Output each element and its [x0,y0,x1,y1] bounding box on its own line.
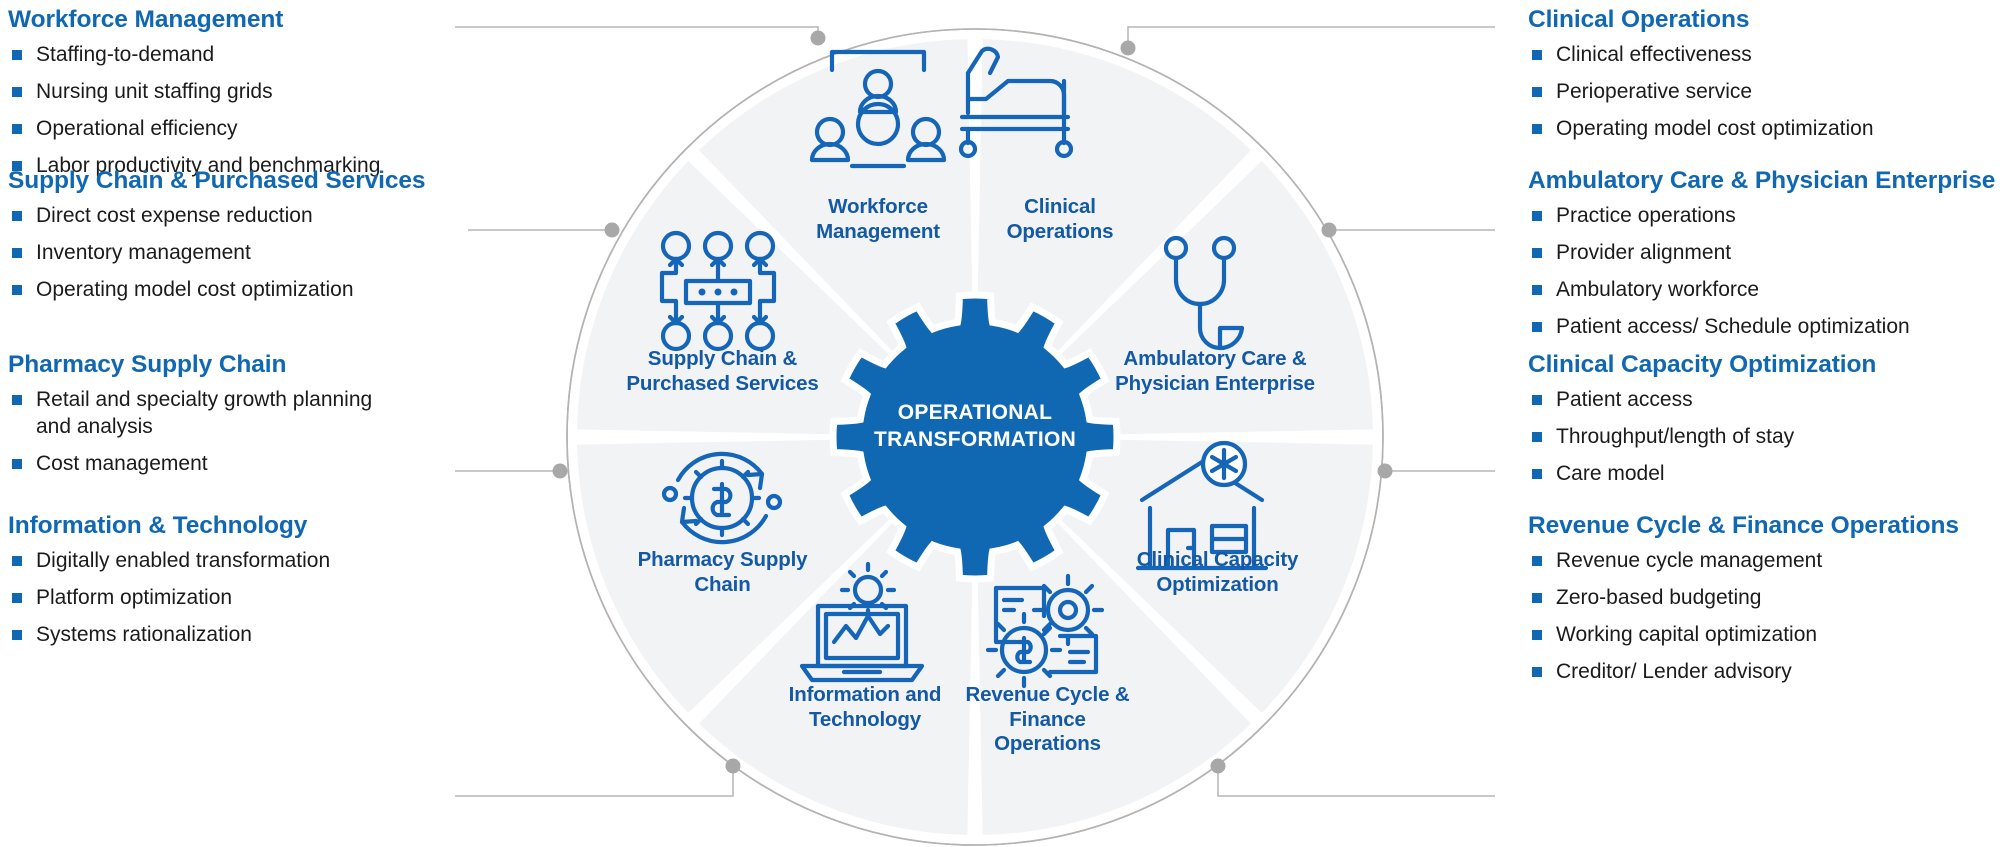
connector-dot-revenue[interactable] [1211,759,1226,774]
list-item: Operating model cost optimization [8,277,438,304]
list-item-label: Perioperative service [1556,80,1752,103]
segment-label-pharmacy-supply-chain[interactable]: Pharmacy Supply Chain [610,548,835,597]
list-item-label: Cost management [36,452,208,475]
panel-title: Supply Chain & Purchased Services [8,167,438,196]
list-item: Digitally enabled transformation [8,548,408,575]
list-item-label: Inventory management [36,241,251,264]
list-item: Operational efficiency [8,116,428,143]
bullet-square-icon [1532,630,1542,640]
segment-label-line: Clinical [945,195,1175,220]
list-item: Provider alignment [1528,240,1998,267]
bullet-square-icon [1532,469,1542,479]
segment-label-clinical-capacity[interactable]: Clinical Capacity Optimization [1110,548,1325,597]
connector-dot-workforce[interactable] [811,31,826,46]
hub-title-line1: OPERATIONAL [845,400,1105,427]
list-item-label: Creditor/ Lender advisory [1556,660,1792,683]
segment-label-line: Supply Chain & [600,347,845,372]
bullet-square-icon [1532,322,1542,332]
diagram-canvas: Workforce Management Clinical Operations… [0,0,2000,847]
segment-label-supply-chain[interactable]: Supply Chain & Purchased Services [600,347,845,396]
panel-information-technology: Information & Technology Digitally enabl… [8,512,408,649]
list-item: Throughput/length of stay [1528,424,1998,451]
list-item: Nursing unit staffing grids [8,79,428,106]
list-item-label: Patient access/ Schedule optimization [1556,315,1910,338]
panel-supply-chain-purchased-services: Supply Chain & Purchased Services Direct… [8,167,438,304]
panel-title: Revenue Cycle & Finance Operations [1528,512,1998,541]
list-item: Revenue cycle management [1528,548,1998,575]
bullet-square-icon [12,395,22,405]
bullet-square-icon [1532,50,1542,60]
panel-bullet-list: Clinical effectiveness Perioperative ser… [1528,42,1998,143]
list-item: Staffing-to-demand [8,42,428,69]
bullet-square-icon [1532,211,1542,221]
list-item: Working capital optimization [1528,622,1998,649]
bullet-square-icon [1532,667,1542,677]
list-item: Zero-based budgeting [1528,585,1998,612]
segment-label-line: Technology [745,708,985,733]
panel-pharmacy-supply-chain: Pharmacy Supply Chain Retail and special… [8,351,408,478]
list-item-label: Direct cost expense reduction [36,204,313,227]
list-item: Inventory management [8,240,438,267]
list-item: Care model [1528,461,1998,488]
list-item-label: Zero-based budgeting [1556,586,1761,609]
list-item-label: Operating model cost optimization [1556,117,1874,140]
panel-title: Pharmacy Supply Chain [8,351,408,380]
panel-bullet-list: Direct cost expense reduction Inventory … [8,203,438,304]
bullet-square-icon [1532,432,1542,442]
list-item: Patient access [1528,387,1998,414]
panel-title: Information & Technology [8,512,408,541]
panel-bullet-list: Digitally enabled transformation Platfor… [8,548,408,649]
bullet-square-icon [12,459,22,469]
bullet-square-icon [1532,124,1542,134]
list-item: Systems rationalization [8,622,408,649]
list-item: Perioperative service [1528,79,1998,106]
connector-dot-ambulatory[interactable] [1322,223,1337,238]
connector-dot-supply[interactable] [605,223,620,238]
panel-title: Ambulatory Care & Physician Enterprise [1528,167,1998,196]
segment-label-line: Chain [610,573,835,598]
list-item-label: Operational efficiency [36,117,238,140]
list-item-label: Care model [1556,462,1665,485]
segment-label-line: Optimization [1110,573,1325,598]
segment-label-line: Clinical Capacity [1110,548,1325,573]
connector-dot-clinops[interactable] [1121,41,1136,56]
bullet-square-icon [1532,87,1542,97]
connector-dot-pharmacy[interactable] [553,464,568,479]
panel-title: Clinical Operations [1528,6,1998,35]
list-item: Practice operations [1528,203,1998,230]
segment-label-line: Ambulatory Care & [1095,347,1335,372]
connector-dot-infotech[interactable] [726,759,741,774]
list-item-label: Revenue cycle management [1556,549,1822,572]
list-item-label: Working capital optimization [1556,623,1817,646]
bullet-square-icon [12,556,22,566]
bullet-square-icon [12,248,22,258]
panel-bullet-list: Retail and specialty growth planning and… [8,387,408,478]
list-item-label: Ambulatory workforce [1556,278,1759,301]
panel-bullet-list: Practice operations Provider alignment A… [1528,203,1998,341]
list-item: Direct cost expense reduction [8,203,438,230]
list-item-label: Practice operations [1556,204,1736,227]
segment-label-ambulatory-care[interactable]: Ambulatory Care & Physician Enterprise [1095,347,1335,396]
segment-label-line: Physician Enterprise [1095,372,1335,397]
panel-revenue-cycle-finance-operations: Revenue Cycle & Finance Operations Reven… [1528,512,1998,685]
bullet-square-icon [1532,593,1542,603]
panel-clinical-operations: Clinical Operations Clinical effectivene… [1528,6,1998,143]
list-item-label: Patient access [1556,388,1693,411]
connector-dot-capacity[interactable] [1378,464,1393,479]
list-item-label: Provider alignment [1556,241,1731,264]
bullet-square-icon [1532,248,1542,258]
panel-title: Clinical Capacity Optimization [1528,351,1998,380]
bullet-square-icon [12,285,22,295]
list-item-label: Throughput/length of stay [1556,425,1794,448]
hub-title: OPERATIONAL TRANSFORMATION [845,400,1105,454]
segment-label-line: Information and [745,683,985,708]
segment-label-line: Operations [945,220,1175,245]
bullet-square-icon [1532,395,1542,405]
segment-label-line: Operations [935,732,1160,757]
bullet-square-icon [12,630,22,640]
list-item: Retail and specialty growth planning and… [8,387,408,441]
list-item-label: Operating model cost optimization [36,278,354,301]
list-item: Clinical effectiveness [1528,42,1998,69]
panel-ambulatory-care-physician-enterprise: Ambulatory Care & Physician Enterprise P… [1528,167,1998,340]
panel-workforce-management: Workforce Management Staffing-to-demand … [8,6,428,179]
list-item: Ambulatory workforce [1528,277,1998,304]
panel-clinical-capacity-optimization: Clinical Capacity Optimization Patient a… [1528,351,1998,488]
bullet-square-icon [12,593,22,603]
bullet-square-icon [12,211,22,221]
list-item-label: Retail and specialty growth planning and… [36,388,372,438]
segment-label-clinical-operations[interactable]: Clinical Operations [945,195,1175,244]
panel-title: Workforce Management [8,6,428,35]
panel-bullet-list: Staffing-to-demand Nursing unit staffing… [8,42,428,180]
segment-label-line: Pharmacy Supply [610,548,835,573]
segment-label-information-technology[interactable]: Information and Technology [745,683,985,732]
hub-title-line2: TRANSFORMATION [845,427,1105,454]
bullet-square-icon [12,50,22,60]
panel-bullet-list: Revenue cycle management Zero-based budg… [1528,548,1998,686]
list-item: Platform optimization [8,585,408,612]
list-item-label: Platform optimization [36,586,232,609]
list-item: Operating model cost optimization [1528,116,1998,143]
list-item: Cost management [8,451,408,478]
list-item: Creditor/ Lender advisory [1528,659,1998,686]
bullet-square-icon [1532,556,1542,566]
list-item-label: Digitally enabled transformation [36,549,330,572]
list-item: Patient access/ Schedule optimization [1528,314,1998,341]
list-item-label: Clinical effectiveness [1556,43,1752,66]
list-item-label: Systems rationalization [36,623,252,646]
bullet-square-icon [12,87,22,97]
bullet-square-icon [12,124,22,134]
bullet-square-icon [1532,285,1542,295]
panel-bullet-list: Patient access Throughput/length of stay… [1528,387,1998,488]
segment-label-line: Purchased Services [600,372,845,397]
list-item-label: Staffing-to-demand [36,43,214,66]
list-item-label: Nursing unit staffing grids [36,80,273,103]
